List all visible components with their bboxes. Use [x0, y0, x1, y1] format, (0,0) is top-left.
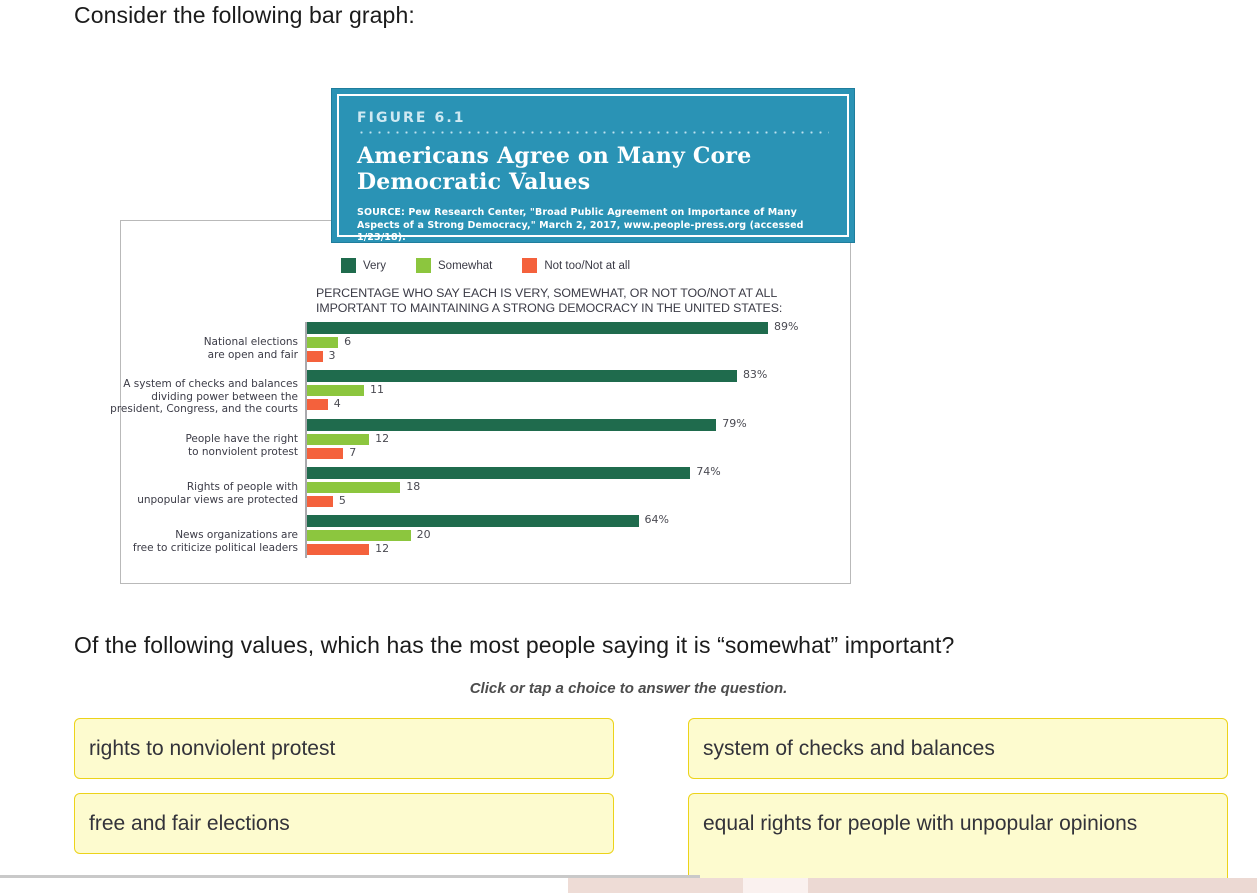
chart-bar	[307, 419, 716, 431]
chart-bar	[307, 434, 369, 445]
chart-bar	[307, 448, 343, 459]
legend-label: Not too/Not at all	[544, 260, 630, 272]
figure-header-inner: FIGURE 6.1 Americans Agree on Many Core …	[337, 94, 849, 237]
answer-choice-1[interactable]: rights to nonviolent protest	[74, 718, 614, 779]
answer-choice-2[interactable]: system of checks and balances	[688, 718, 1228, 779]
chart-bar	[307, 385, 364, 396]
chart-bar	[307, 515, 639, 527]
answer-hint: Click or tap a choice to answer the ques…	[0, 680, 1257, 697]
legend-item-somewhat: Somewhat	[416, 258, 492, 273]
chart-bar	[307, 544, 369, 555]
chart-row-label: National electionsare open and fair	[108, 336, 298, 361]
chart-bar-value: 12	[375, 432, 389, 445]
chart-bar-value: 4	[334, 397, 341, 410]
chart-bar-value: 5	[339, 494, 346, 507]
chart-bar-value: 74%	[696, 465, 720, 478]
chart-bar-value: 79%	[722, 417, 746, 430]
chart-bar	[307, 496, 333, 507]
chart-row-label: A system of checks and balancesdividing …	[108, 378, 298, 416]
figure-container: FIGURE 6.1 Americans Agree on Many Core …	[0, 0, 1257, 600]
chart-bar	[307, 482, 400, 493]
bottom-strip-middle	[743, 878, 808, 893]
chart-bar	[307, 337, 338, 348]
chart-bar-value: 7	[349, 446, 356, 459]
chart-bar	[307, 530, 411, 541]
chart-bar	[307, 351, 323, 362]
chart-plot-area: National electionsare open and fair89%63…	[120, 322, 851, 562]
bottom-strip-left	[568, 878, 743, 893]
chart-subtitle: PERCENTAGE WHO SAY EACH IS VERY, SOMEWHA…	[316, 286, 836, 316]
legend-swatch-icon	[341, 258, 356, 273]
legend-label: Very	[363, 260, 386, 272]
figure-number: FIGURE 6.1	[357, 110, 829, 126]
chart-bar	[307, 322, 768, 334]
chart-bar	[307, 370, 737, 382]
legend-swatch-icon	[522, 258, 537, 273]
chart-bar-value: 11	[370, 383, 384, 396]
answer-choice-4[interactable]: equal rights for people with unpopular o…	[688, 793, 1228, 888]
chart-bar-value: 18	[406, 480, 420, 493]
figure-dotted-divider	[357, 131, 829, 134]
chart-bar-value: 20	[417, 528, 431, 541]
legend-item-very: Very	[341, 258, 386, 273]
figure-header: FIGURE 6.1 Americans Agree on Many Core …	[331, 88, 855, 243]
choice-list: rights to nonviolent protestsystem of ch…	[74, 718, 1229, 888]
chart-bar-value: 89%	[774, 320, 798, 333]
chart-bar	[307, 399, 328, 410]
chart-bar-value: 12	[375, 542, 389, 555]
chart-legend: VerySomewhatNot too/Not at all	[120, 258, 851, 273]
chart-bar	[307, 467, 690, 479]
chart-row-label: News organizations arefree to criticize …	[108, 529, 298, 554]
answer-choice-3[interactable]: free and fair elections	[74, 793, 614, 854]
chart-bar-value: 3	[329, 349, 336, 362]
legend-label: Somewhat	[438, 260, 492, 272]
bottom-strip-right	[808, 878, 1257, 893]
chart-bar-value: 64%	[645, 513, 669, 526]
question-page: Consider the following bar graph: FIGURE…	[0, 0, 1257, 893]
chart-row-label: People have the rightto nonviolent prote…	[108, 433, 298, 458]
chart-bar-value: 83%	[743, 368, 767, 381]
question-text: Of the following values, which has the m…	[74, 632, 954, 659]
chart-bar-value: 6	[344, 335, 351, 348]
figure-title: Americans Agree on Many Core Democratic …	[357, 143, 829, 195]
figure-source: SOURCE: Pew Research Center, "Broad Publ…	[357, 207, 829, 245]
legend-item-not-too-not-at-all: Not too/Not at all	[522, 258, 630, 273]
chart-row-label: Rights of people withunpopular views are…	[108, 481, 298, 506]
legend-swatch-icon	[416, 258, 431, 273]
